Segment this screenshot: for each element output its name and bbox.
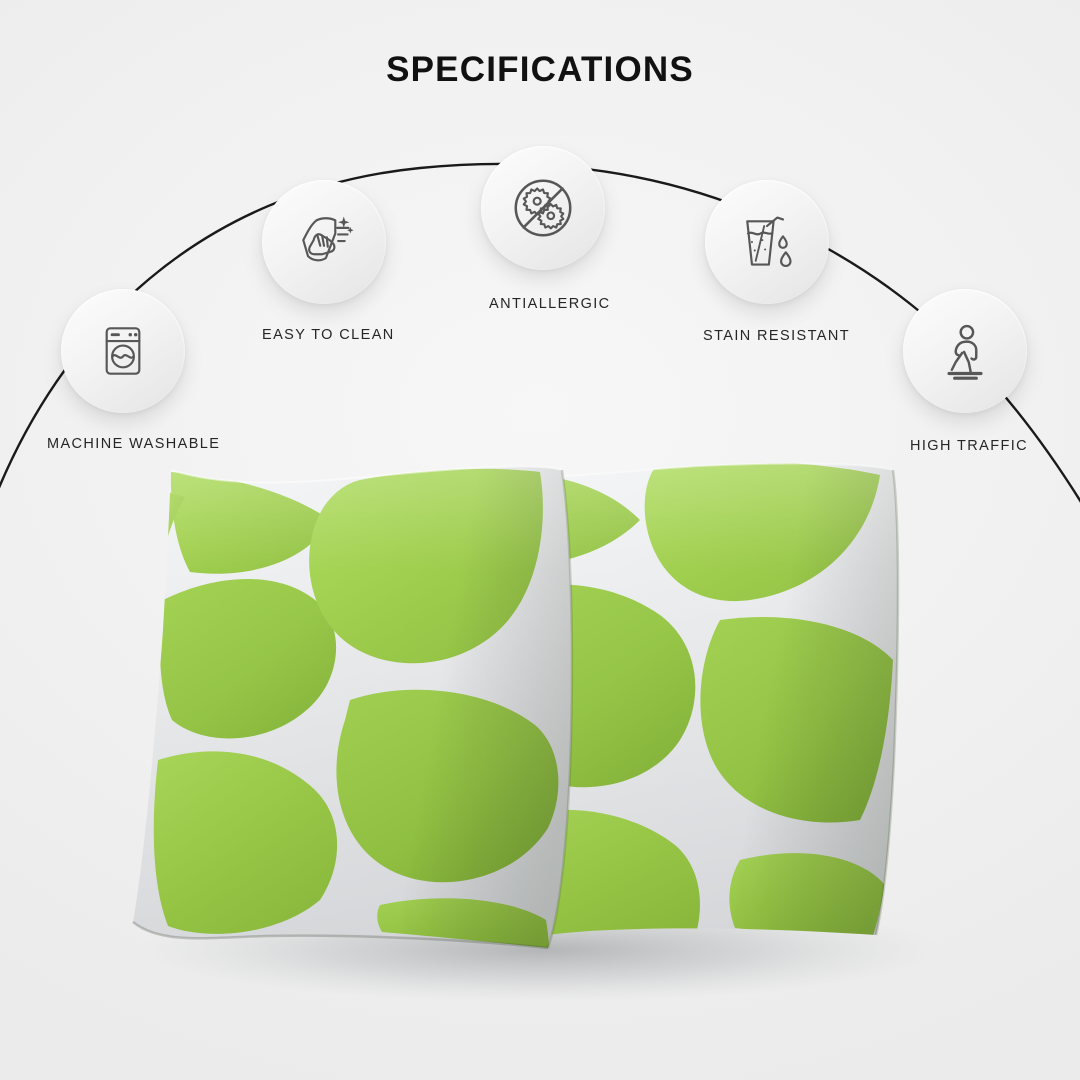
spec-badge-antiallergic[interactable]: [481, 146, 605, 270]
spec-badge-high-traffic[interactable]: [903, 289, 1027, 413]
hand-wiping-cloth-icon: [292, 211, 356, 273]
pillow-front: [110, 430, 610, 990]
spec-label-antiallergic: ANTIALLERGIC: [489, 296, 611, 312]
specifications-infographic: SPECIFICATIONS: [0, 0, 1080, 1080]
spec-badge-easy-to-clean[interactable]: [262, 180, 386, 304]
walking-person-icon: [935, 321, 995, 381]
spec-badge-machine-washable[interactable]: [61, 289, 185, 413]
spec-label-machine-washable: MACHINE WASHABLE: [47, 436, 220, 452]
spec-badge-stain-resistant[interactable]: [705, 180, 829, 304]
spec-label-high-traffic: HIGH TRAFFIC: [910, 438, 1028, 454]
spec-label-easy-to-clean: EASY TO CLEAN: [262, 327, 395, 343]
spec-label-stain-resistant: STAIN RESISTANT: [703, 328, 850, 344]
no-allergens-icon: [508, 173, 578, 243]
glass-with-droplet-icon: [736, 211, 798, 273]
washing-machine-icon: [94, 322, 152, 380]
